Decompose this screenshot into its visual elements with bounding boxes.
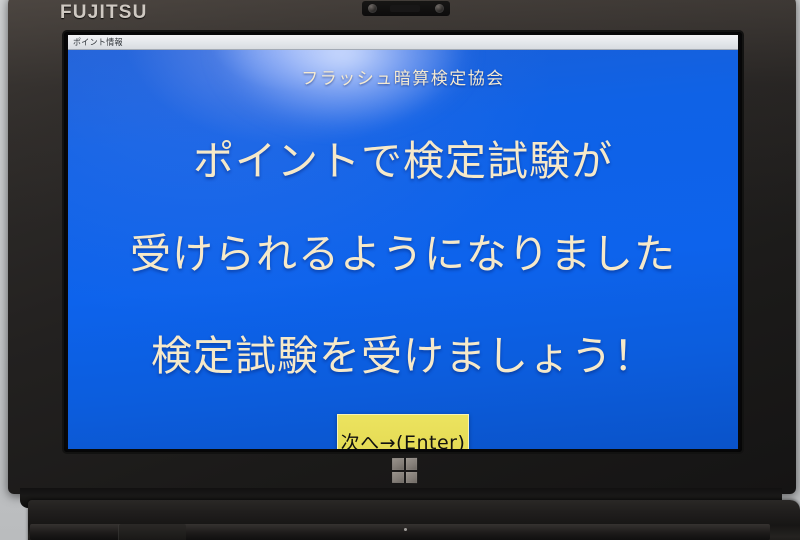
- next-button[interactable]: 次へ→(Enter): [337, 414, 469, 449]
- windows-pane-top-left: [392, 458, 403, 469]
- webcam-icon: [362, 1, 450, 16]
- screen-display: ポイント情報 フラッシュ暗算検定協会 ポイントで検定試験が 受けられるようになり…: [68, 35, 738, 449]
- organization-title: フラッシュ暗算検定協会: [68, 64, 738, 89]
- fujitsu-brand-logo: FUJITSU: [60, 2, 148, 24]
- message-line-2: 受けられるようになりました: [68, 220, 738, 280]
- windows-pane-top-right: [405, 457, 417, 469]
- laptop-base-indicator-dot: [404, 528, 407, 531]
- app-content-area: フラッシュ暗算検定協会 ポイントで検定試験が 受けられるようになりました 検定試…: [68, 50, 738, 449]
- next-button-container: 次へ→(Enter): [68, 414, 738, 449]
- windows-pane-bottom-left: [392, 471, 403, 482]
- window-title: ポイント情報: [68, 37, 123, 49]
- windows-pane-bottom-right: [405, 471, 417, 483]
- windows-logo-icon: [392, 457, 417, 482]
- photo-of-laptop-screen: FUJITSU ポイント情報 フラッシュ暗算検定協会 ポイントで検定試験が 受け…: [0, 0, 800, 540]
- camera-lens-left-icon: [368, 4, 377, 13]
- window-titlebar: ポイント情報: [68, 35, 738, 50]
- message-line-1: ポイントで検定試験が: [68, 127, 738, 187]
- windows-home-button[interactable]: [382, 455, 426, 485]
- laptop-base-notch: [118, 524, 186, 540]
- camera-lens-right-icon: [435, 4, 444, 13]
- message-line-3: 検定試験を受けましょう！: [68, 322, 738, 382]
- screen-glare: [218, 50, 468, 128]
- camera-sensor-bar-icon: [390, 5, 420, 12]
- screen-bezel: ポイント情報 フラッシュ暗算検定協会 ポイントで検定試験が 受けられるようになり…: [64, 32, 742, 452]
